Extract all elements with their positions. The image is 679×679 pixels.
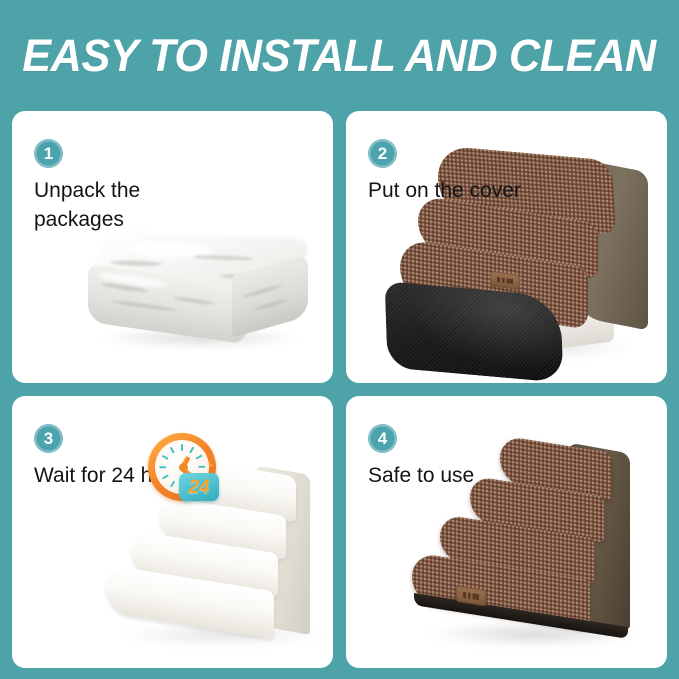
step-badge-1: 1 — [34, 139, 63, 168]
clock-tick — [198, 466, 205, 468]
clock-tick — [189, 446, 195, 453]
package-wrinkle — [192, 255, 255, 261]
step-card-2: 2 Put on the cover — [346, 111, 667, 383]
step-badge-3: 3 — [34, 424, 63, 453]
step-card-1: 1 Unpack the packages — [12, 111, 333, 383]
clock-tick — [195, 454, 202, 460]
step-caption-1: Unpack the packages — [34, 177, 194, 235]
package-wrinkle — [174, 296, 214, 306]
steps-grid: 1 Unpack the packages 2 — [12, 111, 667, 667]
step-number-1: 1 — [44, 145, 53, 162]
clock-hours-badge-label: 24 — [188, 478, 209, 497]
package-wrinkle — [242, 284, 282, 299]
clock-tick — [161, 474, 168, 480]
clock-tick — [169, 446, 175, 453]
clock-hours-badge: 24 — [179, 473, 219, 501]
clock-tick — [159, 466, 166, 468]
step-badge-4: 4 — [368, 424, 397, 453]
clock-24-hours-icon: 24 — [146, 427, 230, 511]
clock-tick — [169, 480, 175, 487]
clock-center-pin — [179, 463, 188, 472]
infographic-poster: EASY TO INSTALL AND CLEAN — [0, 0, 679, 679]
package-wrinkle — [254, 298, 288, 312]
compressed-package-image — [80, 231, 322, 361]
clock-tick — [181, 444, 183, 451]
clock-tick — [161, 454, 168, 460]
step-badge-2: 2 — [368, 139, 397, 168]
page-title: EASY TO INSTALL AND CLEAN — [23, 30, 657, 82]
step-number-2: 2 — [378, 145, 387, 162]
step-number-4: 4 — [378, 430, 387, 447]
title-bar: EASY TO INSTALL AND CLEAN — [0, 0, 679, 111]
step-caption-4: Safe to use — [368, 462, 528, 491]
package-wrinkle — [110, 260, 163, 267]
step-card-4: 4 Safe to use — [346, 396, 667, 668]
step-number-3: 3 — [44, 430, 53, 447]
step-caption-2: Put on the cover — [368, 177, 528, 206]
package-wrinkle — [110, 299, 176, 312]
